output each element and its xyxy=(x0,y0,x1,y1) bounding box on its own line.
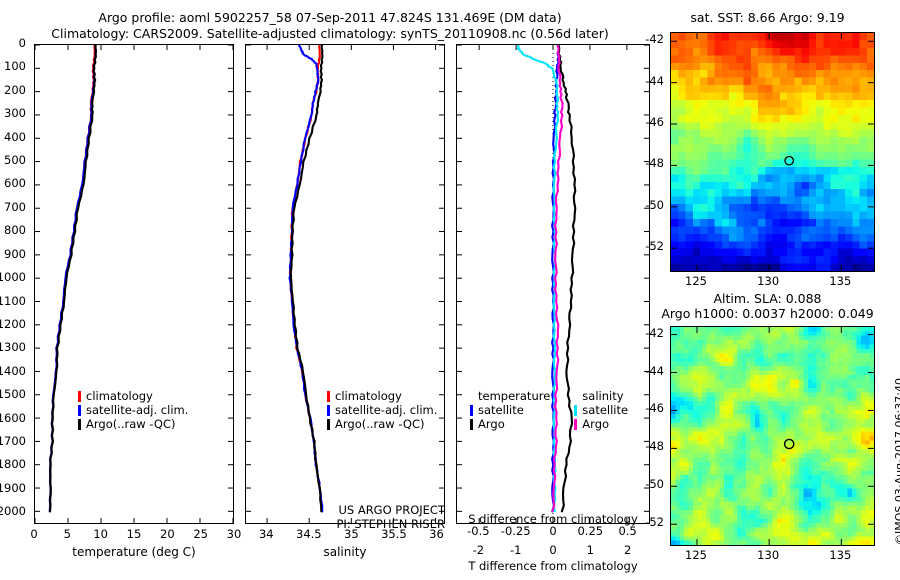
depth-tick-0: 0 xyxy=(19,36,26,50)
legend-title-salinity: salinity xyxy=(582,389,628,403)
sst-map-title: sat. SST: 8.66 Argo: 9.19 xyxy=(660,10,875,25)
depth-tick-500: 500 xyxy=(4,153,26,167)
depth-tick-1600: 1600 xyxy=(0,411,26,425)
tick--2: -2 xyxy=(473,543,484,557)
tick-0.25: 0.25 xyxy=(577,524,603,538)
depth-tick-1900: 1900 xyxy=(0,481,26,495)
legend-swatch-argo-2 xyxy=(327,419,330,430)
legend-swatch-climatology xyxy=(78,391,81,402)
lat-tick--50: -50 xyxy=(645,477,664,491)
depth-tick-1400: 1400 xyxy=(0,364,26,378)
depth-tick-1100: 1100 xyxy=(0,294,26,308)
legend-title-salinity-label: salinity xyxy=(582,389,623,403)
legend-swatch-satellite-adj-2 xyxy=(327,405,330,416)
lon-tick-130: 130 xyxy=(757,274,779,288)
legend-swatch-climatology-2 xyxy=(327,391,330,402)
project-credit-line1: US ARGO PROJECT xyxy=(337,503,446,517)
legend-label-temperature-argo: Argo xyxy=(478,417,505,431)
tick-0.5: 0.5 xyxy=(618,524,636,538)
lat-tick--50: -50 xyxy=(645,198,664,212)
depth-tick-300: 300 xyxy=(4,106,26,120)
legend-swatch-salinity-argo xyxy=(574,419,577,430)
tick-30: 30 xyxy=(227,527,242,541)
tick-2: 2 xyxy=(624,543,631,557)
lon-tick-130: 130 xyxy=(757,548,779,562)
depth-tick-600: 600 xyxy=(4,176,26,190)
legend-item-climatology: climatology xyxy=(78,389,188,403)
depth-tick-700: 700 xyxy=(4,200,26,214)
legend-swatch-temperature-satellite xyxy=(470,405,473,416)
lat-tick--46: -46 xyxy=(645,115,664,129)
tick-25: 25 xyxy=(193,527,208,541)
legend-item-salinity-satellite: satellite xyxy=(574,403,628,417)
temperature-panel xyxy=(34,44,234,524)
sst-map xyxy=(670,32,875,272)
temperature-difference-axis-label: T difference from climatology xyxy=(452,559,654,573)
depth-tick-1500: 1500 xyxy=(0,387,26,401)
lat-tick--52: -52 xyxy=(645,239,664,253)
tick-15: 15 xyxy=(127,527,142,541)
legend-label-argo: Argo(..raw -QC) xyxy=(86,417,176,431)
lat-tick--48: -48 xyxy=(645,156,664,170)
lon-tick-125: 125 xyxy=(685,548,707,562)
legend-swatch-temperature-argo xyxy=(470,419,473,430)
salinity-panel xyxy=(245,44,445,524)
legend-label-salinity-satellite: satellite xyxy=(582,403,628,417)
difference-xaxis-top-ticks: -0.5-0.2500.250.5 xyxy=(456,524,650,539)
legend-swatch-argo xyxy=(78,419,81,430)
page-title-line2: Climatology: CARS2009. Satellite-adjuste… xyxy=(0,26,660,41)
sst-map-lat-ticks: -42-44-46-48-50-52 xyxy=(640,32,668,272)
lon-tick-125: 125 xyxy=(685,274,707,288)
legend-item-argo-2: Argo(..raw -QC) xyxy=(327,417,437,431)
depth-tick-1700: 1700 xyxy=(0,434,26,448)
lon-tick-135: 135 xyxy=(829,548,851,562)
tick-34: 34 xyxy=(259,527,274,541)
salinity-difference-axis-label: S difference from climatology xyxy=(452,512,654,526)
sla-map xyxy=(670,326,875,546)
difference-panel xyxy=(456,44,650,524)
depth-tick-200: 200 xyxy=(4,83,26,97)
legend-item-satellite-adj: satellite-adj. clim. xyxy=(78,403,188,417)
legend-label-salinity-argo: Argo xyxy=(582,417,609,431)
legend-title-temperature: temperature xyxy=(478,389,550,403)
sla-map-lon-ticks: 125130135 xyxy=(670,548,875,563)
depth-tick-900: 900 xyxy=(4,247,26,261)
legend-label-satellite-adj: satellite-adj. clim. xyxy=(86,403,188,417)
temperature-yaxis-ticks: 0100200300400500600700800900100011001200… xyxy=(0,44,30,524)
legend-item-salinity-argo: Argo xyxy=(574,417,628,431)
difference-legend: temperature satellite Argo salinity sate… xyxy=(470,389,628,431)
tick-5: 5 xyxy=(64,527,71,541)
lat-tick--46: -46 xyxy=(645,401,664,415)
legend-swatch-salinity-satellite xyxy=(574,405,577,416)
difference-xaxis-bottom-ticks: -2-1012 xyxy=(456,543,650,558)
temperature-xaxis-ticks: 051015202530 xyxy=(34,527,234,543)
tick--1: -1 xyxy=(510,543,521,557)
lat-tick--42: -42 xyxy=(645,326,664,340)
difference-legend-salinity-column: salinity satellite Argo xyxy=(574,389,628,431)
tick--0.25: -0.25 xyxy=(501,524,531,538)
temperature-legend: climatology satellite-adj. clim. Argo(..… xyxy=(78,389,188,431)
tick-0: 0 xyxy=(30,527,37,541)
legend-label-argo-2: Argo(..raw -QC) xyxy=(335,417,425,431)
temperature-axis-label: temperature (deg C) xyxy=(34,545,234,559)
tick-34.5: 34.5 xyxy=(296,527,322,541)
depth-tick-800: 800 xyxy=(4,223,26,237)
salinity-axis-label: salinity xyxy=(245,545,445,559)
legend-title-temperature-label: temperature xyxy=(478,389,550,403)
sla-map-title-line2: Argo h1000: 0.0037 h2000: 0.049 xyxy=(650,306,885,321)
legend-swatch-satellite-adj xyxy=(78,405,81,416)
legend-item-satellite-adj-2: satellite-adj. clim. xyxy=(327,403,437,417)
sst-map-lon-ticks: 125130135 xyxy=(670,274,875,289)
legend-item-argo: Argo(..raw -QC) xyxy=(78,417,188,431)
depth-tick-100: 100 xyxy=(4,59,26,73)
lon-tick-135: 135 xyxy=(829,274,851,288)
legend-label-climatology-2: climatology xyxy=(335,389,402,403)
tick-20: 20 xyxy=(160,527,175,541)
project-credit-line2: PI: STEPHEN RISER xyxy=(337,517,446,531)
legend-item-temperature-satellite: satellite xyxy=(470,403,550,417)
depth-tick-1800: 1800 xyxy=(0,457,26,471)
tick--0.5: -0.5 xyxy=(467,524,489,538)
depth-tick-2000: 2000 xyxy=(0,504,26,518)
tick-0: 0 xyxy=(549,524,556,538)
depth-tick-1300: 1300 xyxy=(0,340,26,354)
legend-item-climatology-2: climatology xyxy=(327,389,437,403)
tick-1: 1 xyxy=(587,543,594,557)
project-credit: US ARGO PROJECT PI: STEPHEN RISER xyxy=(337,503,446,531)
sla-map-lat-ticks: -42-44-46-48-50-52 xyxy=(640,326,668,546)
sla-map-title-line1: Altim. SLA: 0.088 xyxy=(660,291,875,306)
lat-tick--44: -44 xyxy=(645,364,664,378)
imos-credit: ©IMOS 03-Aug-2017 06:37:40 xyxy=(893,378,900,545)
difference-legend-temperature-column: temperature satellite Argo xyxy=(470,389,550,431)
tick-0: 0 xyxy=(549,543,556,557)
legend-item-temperature-argo: Argo xyxy=(470,417,550,431)
lat-tick--52: -52 xyxy=(645,515,664,529)
depth-tick-1000: 1000 xyxy=(0,270,26,284)
lat-tick--48: -48 xyxy=(645,439,664,453)
depth-tick-400: 400 xyxy=(4,130,26,144)
lat-tick--42: -42 xyxy=(645,32,664,46)
depth-tick-1200: 1200 xyxy=(0,317,26,331)
salinity-legend: climatology satellite-adj. clim. Argo(..… xyxy=(327,389,437,431)
lat-tick--44: -44 xyxy=(645,74,664,88)
page-title-line1: Argo profile: aoml 5902257_58 07-Sep-201… xyxy=(0,10,660,25)
legend-label-satellite-adj-2: satellite-adj. clim. xyxy=(335,403,437,417)
legend-label-temperature-satellite: satellite xyxy=(478,403,524,417)
tick-10: 10 xyxy=(93,527,108,541)
legend-label-climatology: climatology xyxy=(86,389,153,403)
